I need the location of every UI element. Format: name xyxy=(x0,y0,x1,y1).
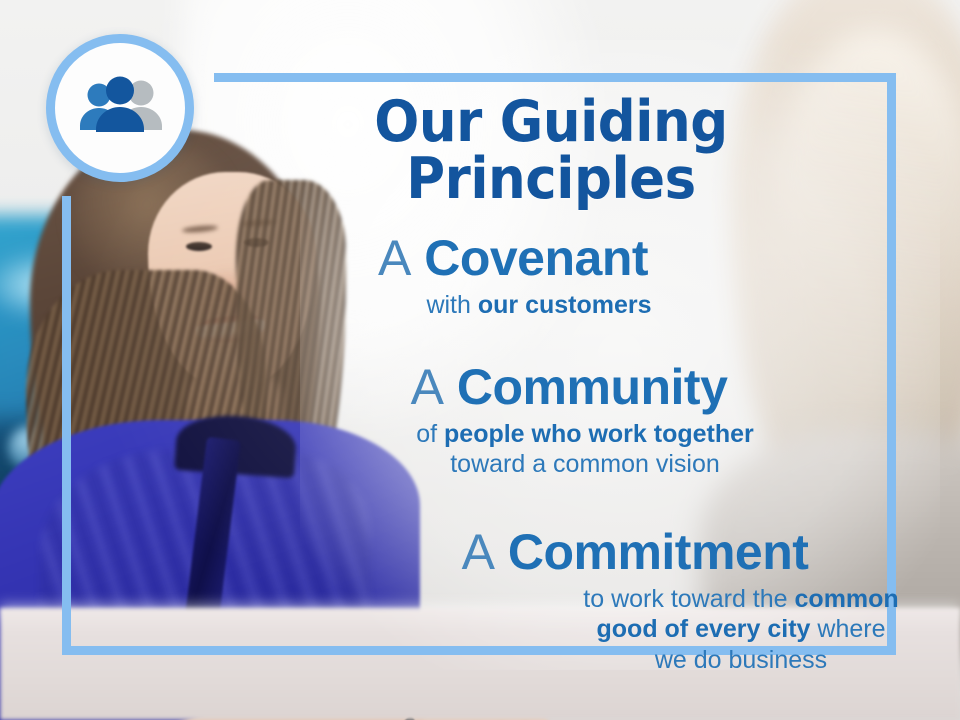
principle-article-2: A xyxy=(411,359,444,415)
desc-2-line-1: of people who work together xyxy=(248,419,922,450)
page-title: Our Guiding Principles xyxy=(238,94,865,208)
principle-description-2: of people who work together toward a com… xyxy=(248,419,922,480)
desc-1-bold: our customers xyxy=(478,291,652,319)
desc-3-bold-1: common xyxy=(795,585,899,613)
desc-3-tail: where xyxy=(810,615,885,643)
principle-article-3: A xyxy=(462,524,495,580)
principle-block-commitment: A Commitment to work toward the common g… xyxy=(214,526,888,676)
desc-3-lead: to work toward the xyxy=(583,585,794,613)
desc-1-lead: with xyxy=(426,291,477,319)
desc-3-line-2: good of every city where xyxy=(526,614,956,645)
desc-3-bold-2: good of every city xyxy=(597,615,811,643)
principle-heading-3: A Commitment xyxy=(298,526,960,578)
principle-block-covenant: A Covenant with our customers xyxy=(214,232,888,321)
desc-2-lead: of xyxy=(416,420,444,448)
desc-2-bold: people who work together xyxy=(444,420,754,448)
people-badge xyxy=(46,34,194,182)
principle-word-1: Covenant xyxy=(424,230,648,286)
principle-block-community: A Community of people who work together … xyxy=(214,361,888,480)
principle-word-3: Commitment xyxy=(508,524,809,580)
desc-2-line-2: toward a common vision xyxy=(248,449,922,480)
guiding-principles-graphic: FLOW FLOW xyxy=(0,0,960,720)
principle-article-1: A xyxy=(378,230,411,286)
people-group-icon xyxy=(74,76,166,140)
principle-word-2: Community xyxy=(457,359,728,415)
principle-heading-1: A Covenant xyxy=(176,232,850,284)
desc-3-line-3: we do business xyxy=(526,645,956,676)
text-content: Our Guiding Principles A Covenant with o… xyxy=(214,82,888,675)
desc-3-line-1: to work toward the common xyxy=(526,584,956,615)
principle-description-1: with our customers xyxy=(202,290,876,321)
principle-heading-2: A Community xyxy=(232,361,906,413)
principle-description-3: to work toward the common good of every … xyxy=(526,584,956,676)
